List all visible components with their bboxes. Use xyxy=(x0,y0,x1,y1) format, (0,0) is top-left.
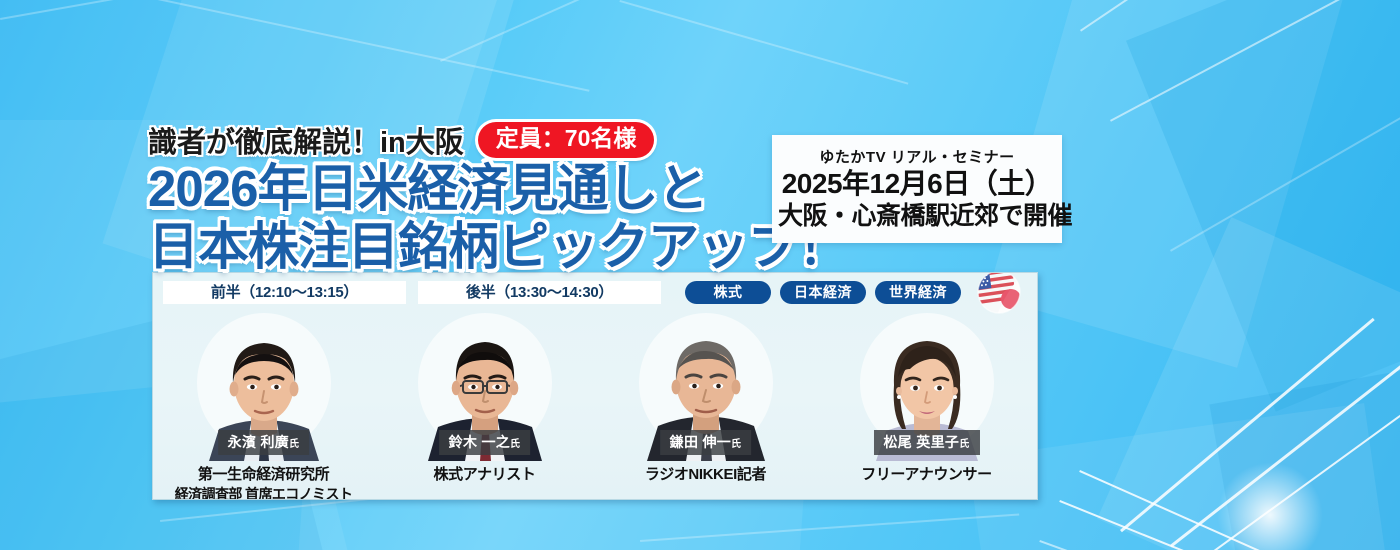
speaker-name: 鎌田 伸一 xyxy=(670,434,731,450)
speaker-card: 松尾 英里子氏 フリーアナウンサー xyxy=(816,311,1037,500)
speaker-name-suffix: 氏 xyxy=(731,439,741,450)
category-badges: 株式 日本経済 世界経済 xyxy=(685,281,961,304)
headline-block: 識者が徹底解説！in大阪 定員：70名様 2026年日米経済見通しと 日本株注目… xyxy=(148,122,848,274)
speaker-role: ラジオNIKKEI記者 xyxy=(595,465,816,485)
speaker-name: 鈴木 一之 xyxy=(449,434,510,450)
speaker-role-line1: ラジオNIKKEI記者 xyxy=(645,466,766,483)
speaker-card: 鈴木 一之氏 株式アナリスト xyxy=(374,311,595,500)
page-title-line1: 2026年日米経済見通しと xyxy=(148,161,848,216)
portrait-wrap: 松尾 英里子氏 xyxy=(852,311,1002,461)
brand-label: ゆたかTV リアル・セミナー xyxy=(778,146,1056,167)
speaker-role-line1: 第一生命経済研究所 xyxy=(198,466,329,483)
speaker-nametag: 鎌田 伸一氏 xyxy=(660,430,752,455)
speaker-role: 株式アナリスト xyxy=(374,465,595,485)
category-badge-japan-economy[interactable]: 日本経済 xyxy=(780,281,866,304)
page-title-line2: 日本株注目銘柄ピックアップ！ xyxy=(148,219,848,274)
event-date: 2025年12月6日（土） xyxy=(778,167,1056,201)
time-slot-first-half: 前半（12:10〜13:15） xyxy=(163,281,406,304)
speaker-name-suffix: 氏 xyxy=(510,439,520,450)
date-card: ゆたかTV リアル・セミナー 2025年12月6日（土） 大阪・心斎橋駅近郊で開… xyxy=(772,135,1062,243)
capacity-badge: 定員：70名様 xyxy=(478,122,655,157)
kicker-text: 識者が徹底解説！in大阪 xyxy=(148,119,464,161)
speaker-panel: 前半（12:10〜13:15） 後半（13:30〜14:30） 株式 日本経済 … xyxy=(152,272,1038,500)
speaker-role-line1: 株式アナリスト xyxy=(434,466,536,483)
speaker-card: 永濱 利廣氏 第一生命経済研究所 経済調査部 首席エコノミスト xyxy=(153,311,374,500)
event-place: 大阪・心斎橋駅近郊で開催 xyxy=(778,201,1056,231)
time-slot-second-half: 後半（13:30〜14:30） xyxy=(418,281,661,304)
speaker-card: 鎌田 伸一氏 ラジオNIKKEI記者 xyxy=(595,311,816,500)
event-date-text: 2025年12月6日（土） xyxy=(782,168,1053,199)
speaker-role-line2: 経済調査部 首席エコノミスト xyxy=(153,485,374,501)
us-japan-flag-icon xyxy=(975,272,1023,315)
speaker-list: 永濱 利廣氏 第一生命経済研究所 経済調査部 首席エコノミスト xyxy=(153,311,1037,500)
speaker-name-suffix: 氏 xyxy=(289,439,299,450)
speaker-name-suffix: 氏 xyxy=(959,439,969,450)
speaker-nametag: 永濱 利廣氏 xyxy=(218,430,310,455)
speaker-role-line1: フリーアナウンサー xyxy=(861,466,992,483)
speaker-role: 第一生命経済研究所 経済調査部 首席エコノミスト xyxy=(153,465,374,500)
tag-row: 前半（12:10〜13:15） 後半（13:30〜14:30） 株式 日本経済 … xyxy=(163,280,1027,304)
speaker-role: フリーアナウンサー xyxy=(816,465,1037,485)
speaker-nametag: 松尾 英里子氏 xyxy=(873,430,979,455)
speaker-name: 永濱 利廣 xyxy=(228,434,289,450)
portrait-wrap: 鈴木 一之氏 xyxy=(410,311,560,461)
speaker-nametag: 鈴木 一之氏 xyxy=(439,430,531,455)
portrait-wrap: 鎌田 伸一氏 xyxy=(631,311,781,461)
speaker-name: 松尾 英里子 xyxy=(883,434,959,450)
seminar-banner: 識者が徹底解説！in大阪 定員：70名様 2026年日米経済見通しと 日本株注目… xyxy=(0,0,1400,550)
category-badge-stocks[interactable]: 株式 xyxy=(685,281,771,304)
kicker-row: 識者が徹底解説！in大阪 定員：70名様 xyxy=(148,122,848,158)
category-badge-world-economy[interactable]: 世界経済 xyxy=(875,281,961,304)
portrait-wrap: 永濱 利廣氏 xyxy=(189,311,339,461)
